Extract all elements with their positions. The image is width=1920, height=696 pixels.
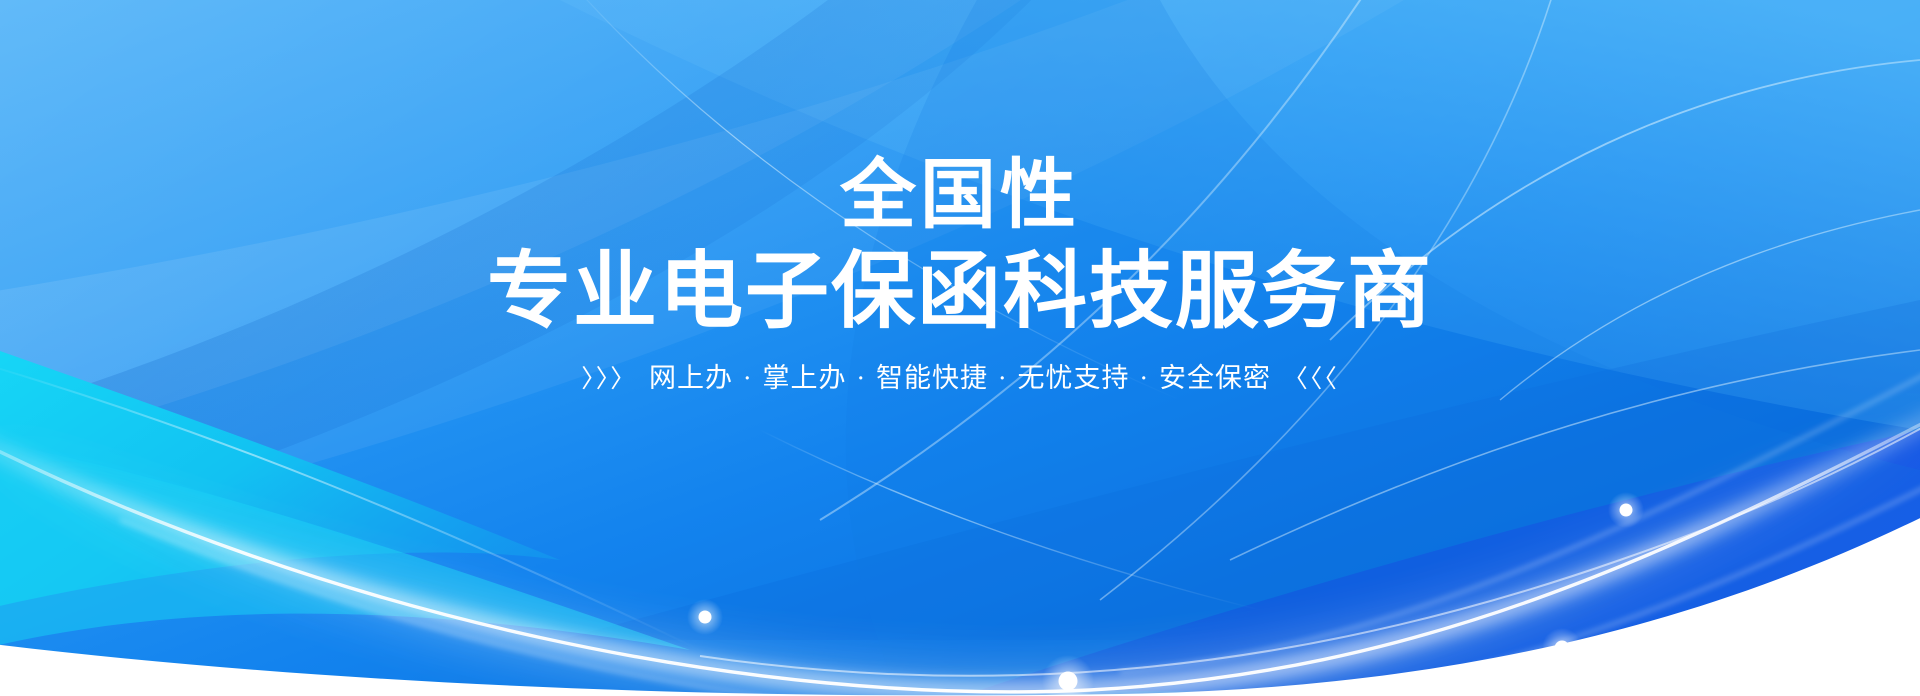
hero-banner: 全国性 专业电子保函科技服务商 〉〉〉 网上办 · 掌上办 · 智能快捷 · 无…: [0, 0, 1920, 696]
glow-dot-right-upper: [1608, 492, 1644, 528]
glow-dot-right-lower: [1542, 628, 1582, 668]
banner-background-art: [0, 0, 1920, 696]
glow-dot-left: [687, 599, 723, 635]
